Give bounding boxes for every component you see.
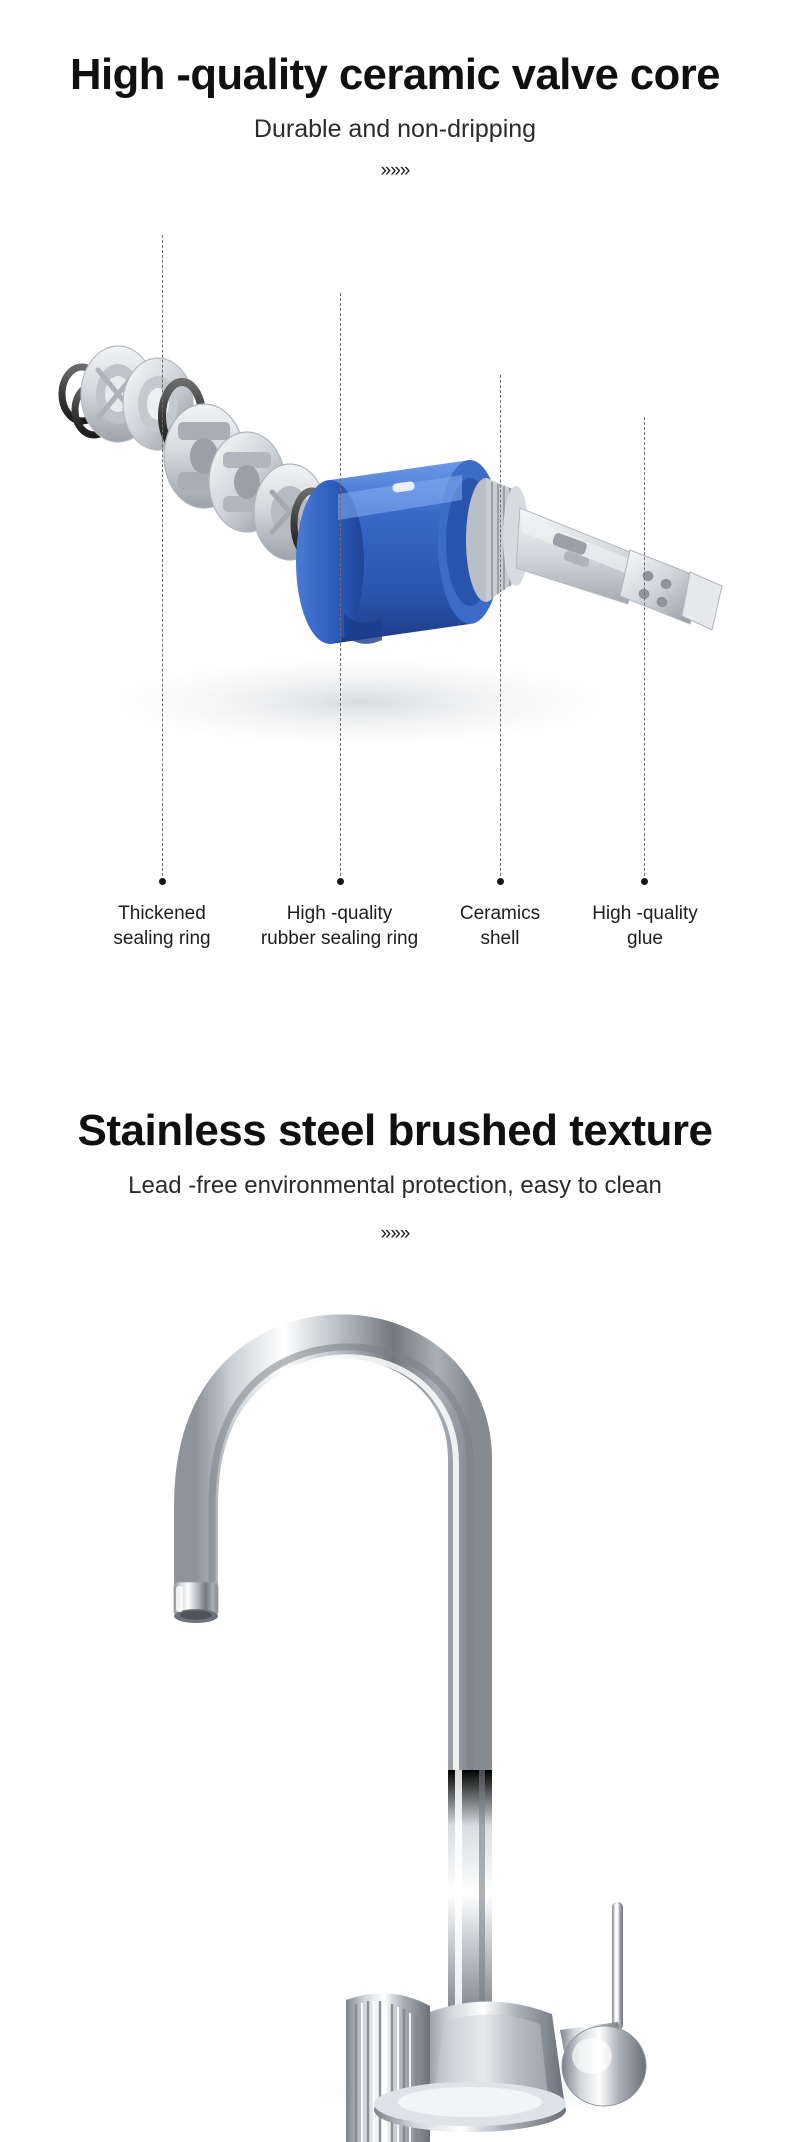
callout-1-line-1: Thickened bbox=[118, 903, 206, 924]
callout-3-line-1: Ceramics bbox=[460, 903, 540, 924]
callout-label-high-quality-glue: High -quality glue bbox=[566, 901, 724, 951]
callout-label-rubber-sealing-ring: High -quality rubber sealing ring bbox=[232, 901, 447, 951]
valve-core-exploded-image bbox=[0, 232, 790, 872]
faucet-product-image bbox=[0, 1230, 790, 2142]
subtitle-steel: Lead -free environmental protection, eas… bbox=[0, 1172, 790, 1201]
callout-leader-1 bbox=[162, 235, 163, 881]
callout-1-line-2: sealing ring bbox=[113, 928, 210, 949]
section-ceramic-valve-core: High -quality ceramic valve core Durable… bbox=[0, 0, 790, 1040]
callout-dot-2 bbox=[337, 878, 344, 885]
callout-4-line-2: glue bbox=[627, 928, 663, 949]
callout-2-line-1: High -quality bbox=[287, 903, 393, 924]
callout-leader-3 bbox=[500, 375, 501, 881]
callout-dot-3 bbox=[497, 878, 504, 885]
page-title-steel: Stainless steel brushed texture bbox=[0, 1108, 790, 1154]
callout-4-line-1: High -quality bbox=[592, 903, 698, 924]
callout-group: Thickened sealing ring High -quality rub… bbox=[0, 855, 790, 1005]
callout-2-line-2: rubber sealing ring bbox=[261, 928, 418, 949]
callout-leader-4 bbox=[644, 417, 645, 881]
chevron-divider-icon: »»» bbox=[0, 160, 790, 182]
callout-3-line-2: shell bbox=[480, 928, 519, 949]
callout-dot-1 bbox=[159, 878, 166, 885]
callout-leader-2 bbox=[340, 293, 341, 881]
callout-label-ceramics-shell: Ceramics shell bbox=[438, 901, 562, 951]
page-title-valve: High -quality ceramic valve core bbox=[4, 52, 786, 98]
subtitle-valve: Durable and non-dripping bbox=[0, 114, 790, 144]
product-detail-page: High -quality ceramic valve core Durable… bbox=[0, 0, 790, 2142]
section-stainless-steel: Stainless steel brushed texture Lead -fr… bbox=[0, 1040, 790, 2142]
callout-dot-4 bbox=[641, 878, 648, 885]
